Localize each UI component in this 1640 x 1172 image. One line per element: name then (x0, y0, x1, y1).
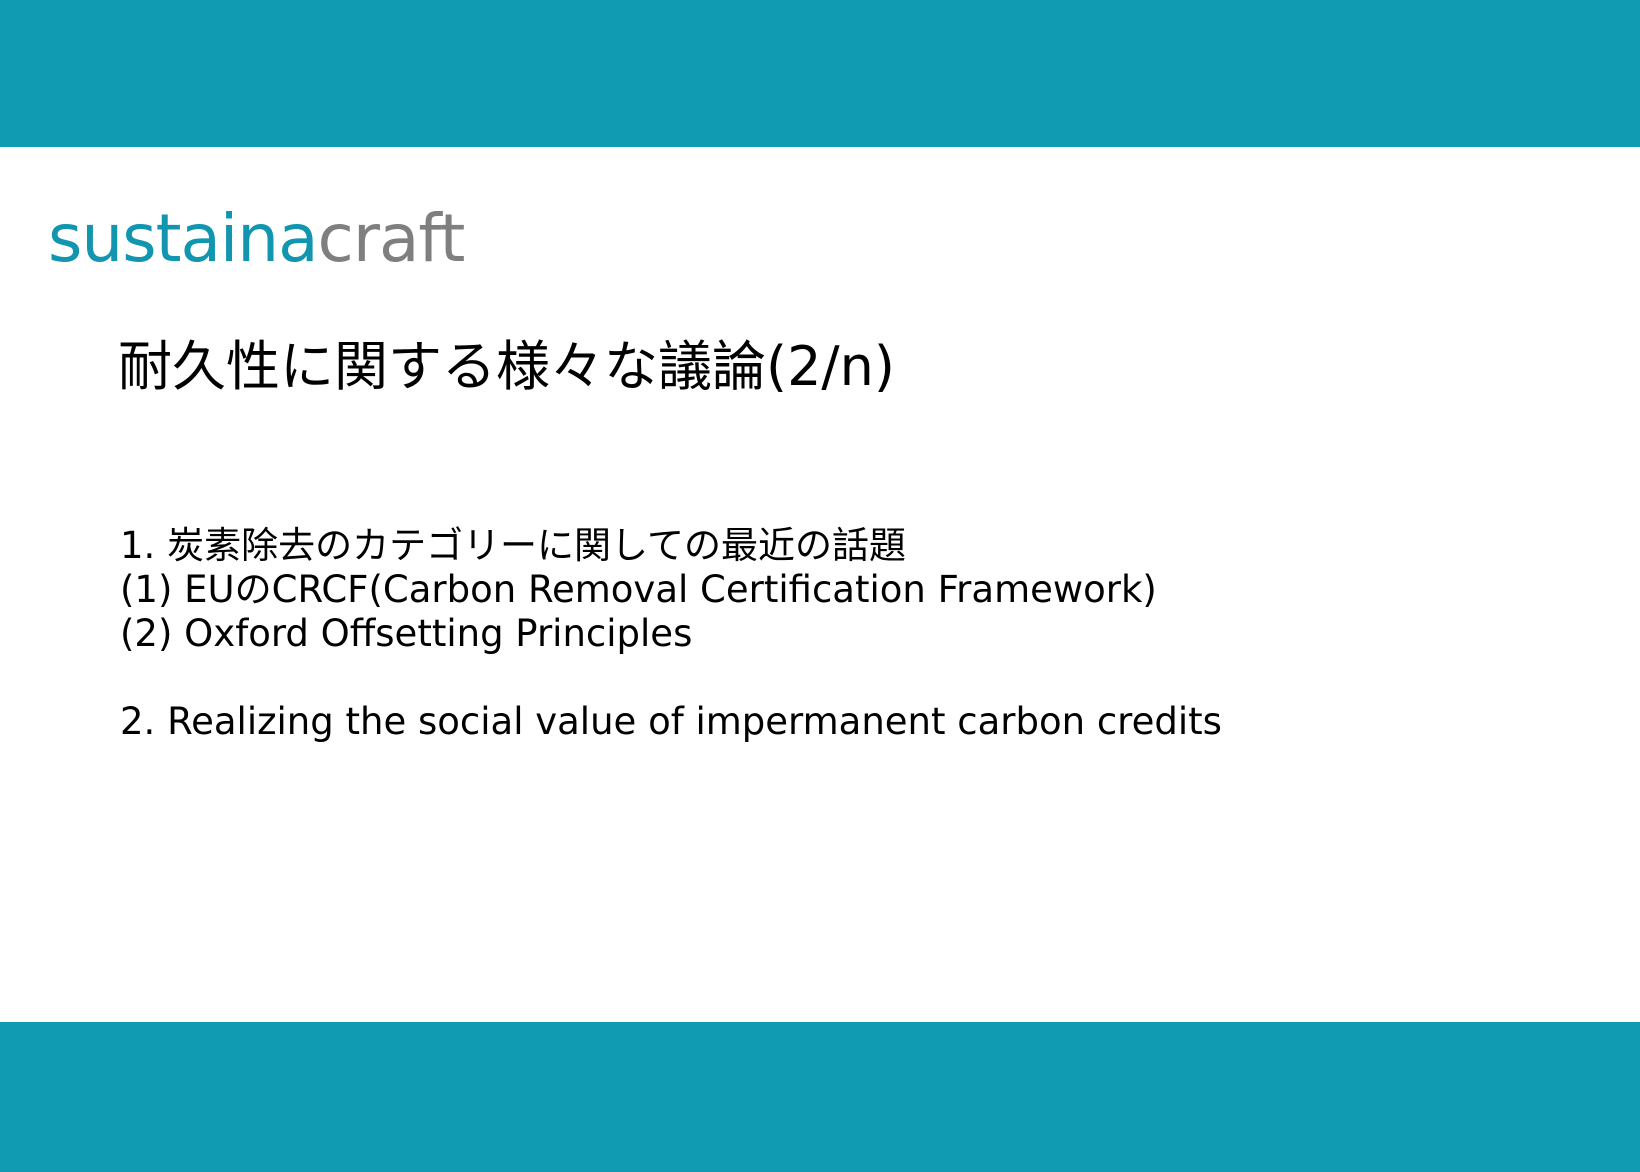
slide-canvas: sustainacraft 耐久性に関する様々な議論(2/n) 1. 炭素除去の… (0, 0, 1640, 1172)
body-line-spacer (120, 656, 1520, 700)
logo-text-primary: sustaina (48, 200, 318, 277)
body-line-2: (1) EUのCRCF(Carbon Removal Certification… (120, 568, 1520, 612)
logo-text-secondary: craft (318, 200, 465, 277)
body-line-1: 1. 炭素除去のカテゴリーに関しての最近の話題 (120, 524, 1520, 568)
slide-body: 1. 炭素除去のカテゴリーに関しての最近の話題 (1) EUのCRCF(Carb… (120, 524, 1520, 744)
slide-title: 耐久性に関する様々な議論(2/n) (118, 336, 895, 398)
body-line-3: (2) Oxford Offsetting Principles (120, 612, 1520, 656)
body-line-4: 2. Realizing the social value of imperma… (120, 700, 1520, 744)
company-logo: sustainacraft (48, 206, 464, 272)
footer-accent-band (0, 1022, 1640, 1172)
header-accent-band (0, 0, 1640, 147)
